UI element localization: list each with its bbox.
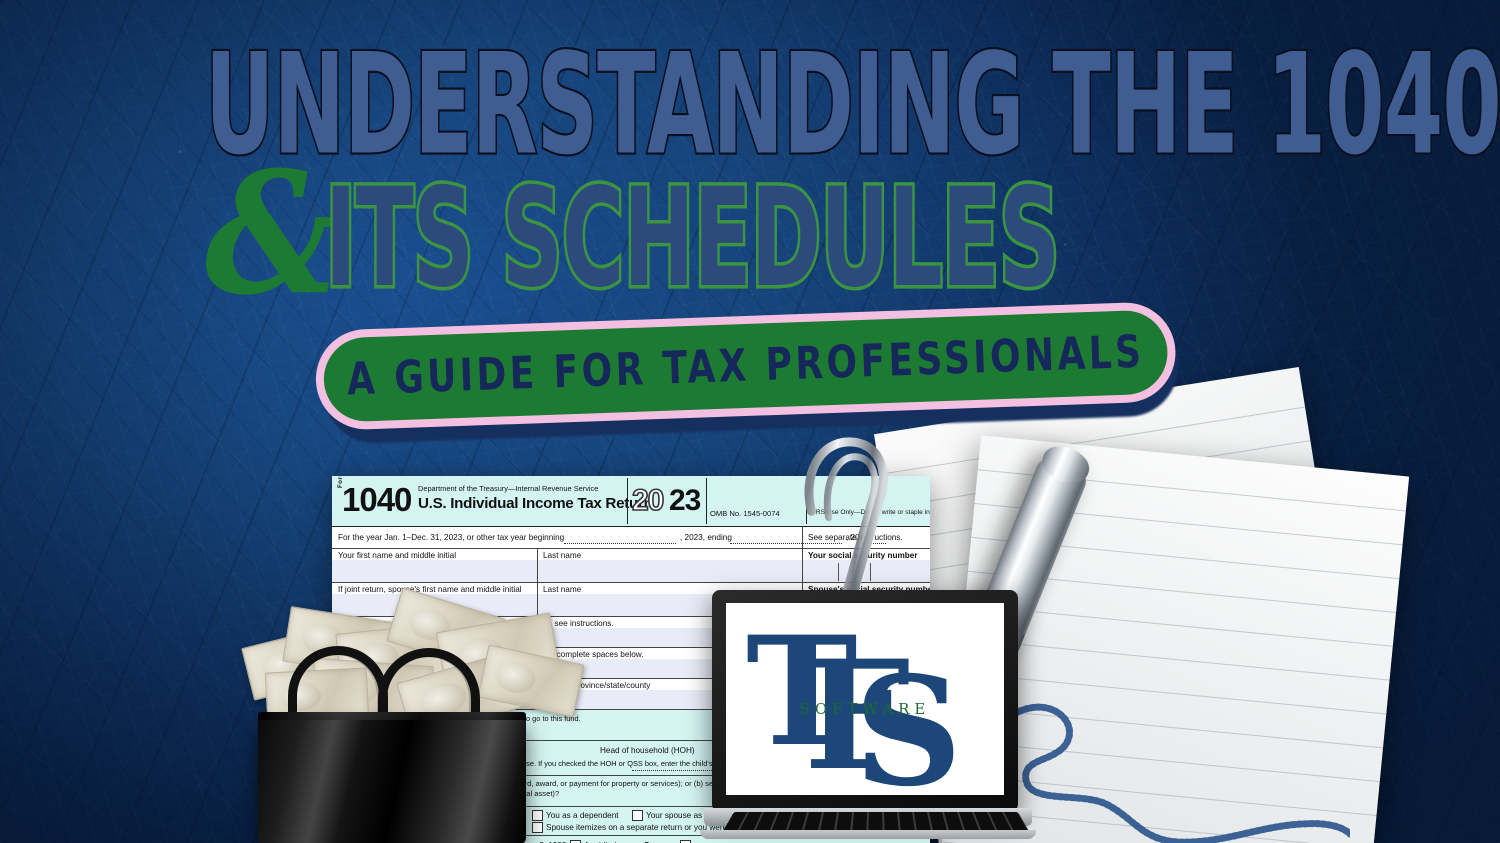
- form-year-prefix: 20: [632, 484, 663, 518]
- headline-line-2: ITS SCHEDULES: [325, 170, 1300, 306]
- form-last-name-2: Last name: [543, 585, 581, 594]
- laptop: T F S SOFTWARE: [712, 590, 1032, 843]
- laptop-lid: T F S SOFTWARE: [712, 590, 1018, 812]
- form-number: 1040: [342, 482, 411, 518]
- logo-wordmark: SOFTWARE: [770, 700, 960, 718]
- form-department: Department of the Treasury—Internal Reve…: [418, 484, 598, 493]
- headline-line-1: UNDERSTANDING THE 1040: [205, 36, 1233, 175]
- form-your-first-name: Your first name and middle initial: [338, 551, 456, 560]
- laptop-screen: T F S SOFTWARE: [726, 603, 1004, 795]
- form-spouse-first-name: If joint return, spouse's first name and…: [338, 585, 522, 594]
- form-tax-year-line: For the year Jan. 1–Dec. 31, 2023, or ot…: [338, 533, 564, 542]
- form-status-hoh: Head of household (HOH): [600, 746, 695, 755]
- form-tax-year-mid: , 2023, ending: [680, 533, 732, 542]
- form-year-suffix: 23: [669, 484, 700, 518]
- tfs-software-logo: T F S SOFTWARE: [726, 603, 1004, 795]
- form-last-name-1: Last name: [543, 551, 581, 560]
- logo-letter-s: S: [854, 657, 962, 795]
- bag-body: [258, 720, 526, 843]
- headline-ampersand: &: [205, 150, 340, 318]
- money-bag: [252, 608, 582, 843]
- poster-canvas: Form 1040 Department of the Treasury—Int…: [0, 0, 1500, 843]
- form-title: U.S. Individual Income Tax Return: [418, 495, 653, 512]
- form-omb-number: OMB No. 1545-0074: [710, 509, 780, 518]
- laptop-foot: [700, 830, 1036, 839]
- form-year-box: 20 23: [627, 478, 707, 524]
- headline-line-2-wrap: & ITS SCHEDULES: [205, 168, 1305, 288]
- form-checkbox-spouse-dependent[interactable]: [632, 810, 643, 821]
